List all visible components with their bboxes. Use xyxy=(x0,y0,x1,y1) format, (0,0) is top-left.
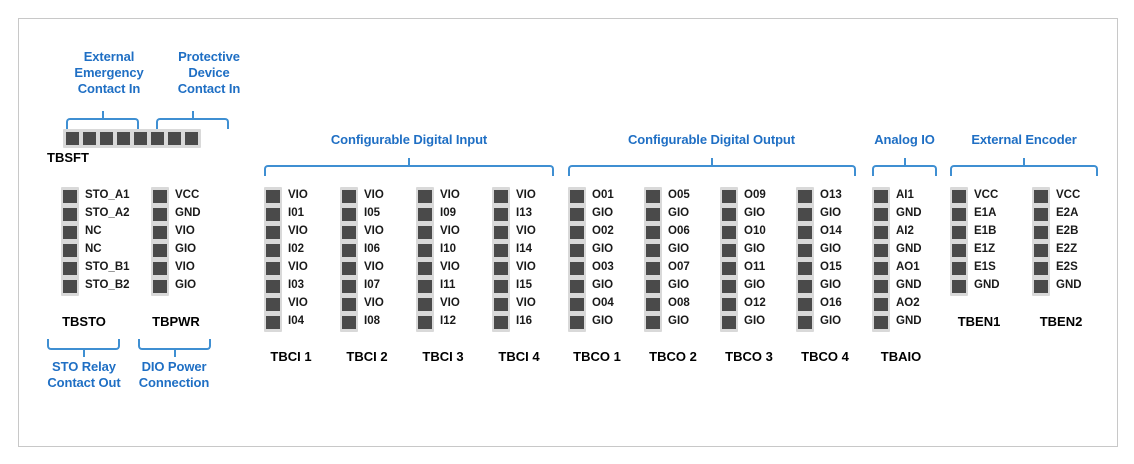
pin-label: NC xyxy=(85,240,130,258)
pin[interactable] xyxy=(342,298,356,311)
pin[interactable] xyxy=(1034,262,1048,275)
pin[interactable] xyxy=(798,208,812,221)
pin[interactable] xyxy=(1034,226,1048,239)
pin-label: GIO xyxy=(668,276,690,294)
bracket-external-emergency xyxy=(66,118,139,129)
pin[interactable] xyxy=(874,190,888,203)
pin-label: VIO xyxy=(440,258,460,276)
pin-label: O10 xyxy=(744,222,766,240)
blockname-tbco1: TBCO 1 xyxy=(555,349,639,364)
pin[interactable] xyxy=(722,226,736,239)
block-tbsto[interactable] xyxy=(61,187,79,296)
pin-label: O09 xyxy=(744,186,766,204)
heading-external-encoder: External Encoder xyxy=(944,132,1104,148)
pin-label: O05 xyxy=(668,186,690,204)
pinlabels-tbci3: VIO I09 VIO I10 VIO I11 VIO I12 xyxy=(440,186,460,330)
blockname-tbpwr: TBPWR xyxy=(131,314,221,329)
pin-label: E1Z xyxy=(974,240,1000,258)
bracket-stem xyxy=(904,158,906,167)
pin-label: E2S xyxy=(1056,258,1082,276)
blockname-tbco2: TBCO 2 xyxy=(631,349,715,364)
pin[interactable] xyxy=(63,280,77,293)
pinlabels-tben1: VCC E1A E1B E1Z E1S GND xyxy=(974,186,1000,294)
pin-label: O15 xyxy=(820,258,842,276)
pin-label: VCC xyxy=(1056,186,1082,204)
pin[interactable] xyxy=(646,262,660,275)
pin-label: O03 xyxy=(592,258,614,276)
bracket-stem xyxy=(102,111,104,120)
pin-label: AI1 xyxy=(896,186,922,204)
pin[interactable] xyxy=(266,316,280,329)
pin[interactable] xyxy=(153,208,167,221)
pin[interactable] xyxy=(874,298,888,311)
pin-label: I13 xyxy=(516,204,536,222)
pin-label: VIO xyxy=(440,222,460,240)
pin-label: GIO xyxy=(668,240,690,258)
heading-sto-relay: STO Relay Contact Out xyxy=(41,359,127,391)
pin[interactable] xyxy=(418,208,432,221)
pin-label: NC xyxy=(85,222,130,240)
pin[interactable] xyxy=(1034,244,1048,257)
pin-label: VIO xyxy=(364,186,384,204)
pin-label: VIO xyxy=(288,222,308,240)
pin-label: E1B xyxy=(974,222,1000,240)
pin-label: AI2 xyxy=(896,222,922,240)
pinlabels-tbci4: VIO I13 VIO I14 VIO I15 VIO I16 xyxy=(516,186,536,330)
pin-label: O12 xyxy=(744,294,766,312)
pin-label: AO2 xyxy=(896,294,922,312)
pin-label: I05 xyxy=(364,204,384,222)
pin[interactable] xyxy=(100,132,113,145)
pin-label: GIO xyxy=(592,240,614,258)
pin-label: VIO xyxy=(364,258,384,276)
heading-analog-io: Analog IO xyxy=(852,132,957,148)
pin[interactable] xyxy=(570,280,584,293)
pin-label: E2A xyxy=(1056,204,1082,222)
pinlabels-tbsto: STO_A1 STO_A2 NC NC STO_B1 STO_B2 xyxy=(85,186,130,294)
pin-label: VIO xyxy=(175,222,201,240)
pin-label: O04 xyxy=(592,294,614,312)
pin[interactable] xyxy=(342,280,356,293)
pin[interactable] xyxy=(494,262,508,275)
bracket-stem xyxy=(192,111,194,120)
bracket-stem xyxy=(1023,158,1025,167)
pin[interactable] xyxy=(798,190,812,203)
block-tbci3[interactable] xyxy=(416,187,434,332)
pin[interactable] xyxy=(151,132,164,145)
pin-label: I04 xyxy=(288,312,308,330)
pin-label: GND xyxy=(896,240,922,258)
pin-label: O02 xyxy=(592,222,614,240)
bracket-protective-device xyxy=(156,118,229,129)
pin[interactable] xyxy=(153,226,167,239)
block-tbaio[interactable] xyxy=(872,187,890,332)
pin[interactable] xyxy=(63,244,77,257)
pin[interactable] xyxy=(874,262,888,275)
pin-label: I01 xyxy=(288,204,308,222)
blockname-tbsft: TBSFT xyxy=(47,150,127,165)
bracket-analog-io xyxy=(872,165,937,176)
pin[interactable] xyxy=(494,298,508,311)
diagram-frame: External Emergency Contact In Protective… xyxy=(18,18,1118,447)
pin-label: GIO xyxy=(744,276,766,294)
pin[interactable] xyxy=(646,280,660,293)
pin[interactable] xyxy=(494,280,508,293)
pin[interactable] xyxy=(153,262,167,275)
pin-label: STO_A2 xyxy=(85,204,130,222)
pin[interactable] xyxy=(722,244,736,257)
pinout-diagram: External Emergency Contact In Protective… xyxy=(0,0,1134,464)
pin[interactable] xyxy=(168,132,181,145)
pin-label: VCC xyxy=(974,186,1000,204)
pin-label: VIO xyxy=(288,294,308,312)
pin-label: VCC xyxy=(175,186,201,204)
pin[interactable] xyxy=(63,190,77,203)
heading-digital-output: Configurable Digital Output xyxy=(564,132,859,148)
pin[interactable] xyxy=(570,190,584,203)
pin[interactable] xyxy=(63,226,77,239)
pin[interactable] xyxy=(798,262,812,275)
pin[interactable] xyxy=(570,316,584,329)
blockname-tbci1: TBCI 1 xyxy=(251,349,331,364)
pin[interactable] xyxy=(570,208,584,221)
bracket-dio-power xyxy=(138,339,211,350)
pin-label: I11 xyxy=(440,276,460,294)
pin[interactable] xyxy=(646,316,660,329)
blockname-tbco4: TBCO 4 xyxy=(783,349,867,364)
pin-label: STO_A1 xyxy=(85,186,130,204)
pin[interactable] xyxy=(952,208,966,221)
pin-label: GIO xyxy=(820,276,842,294)
pin[interactable] xyxy=(418,190,432,203)
pin[interactable] xyxy=(418,226,432,239)
pin[interactable] xyxy=(185,132,198,145)
pin[interactable] xyxy=(418,316,432,329)
heading-external-emergency: External Emergency Contact In xyxy=(59,49,159,97)
pinlabels-tbco1: O01 GIO O02 GIO O03 GIO O04 GIO xyxy=(592,186,614,330)
pin[interactable] xyxy=(494,190,508,203)
bracket-digital-output xyxy=(568,165,856,176)
pin[interactable] xyxy=(570,298,584,311)
pin[interactable] xyxy=(722,298,736,311)
pin-label: STO_B1 xyxy=(85,258,130,276)
pin[interactable] xyxy=(874,226,888,239)
pin-label: VIO xyxy=(516,258,536,276)
bracket-digital-input xyxy=(264,165,554,176)
pin-label: GIO xyxy=(175,276,201,294)
blockname-tbco3: TBCO 3 xyxy=(707,349,791,364)
pin[interactable] xyxy=(266,244,280,257)
block-tben2[interactable] xyxy=(1032,187,1050,296)
pin[interactable] xyxy=(266,262,280,275)
pin-label: GIO xyxy=(820,312,842,330)
pin[interactable] xyxy=(646,226,660,239)
pin[interactable] xyxy=(342,316,356,329)
pin-label: VIO xyxy=(516,186,536,204)
block-tbci1[interactable] xyxy=(264,187,282,332)
pin[interactable] xyxy=(570,244,584,257)
pin-label: GIO xyxy=(592,312,614,330)
pin[interactable] xyxy=(722,208,736,221)
pin[interactable] xyxy=(646,190,660,203)
pin[interactable] xyxy=(494,226,508,239)
block-tbco4[interactable] xyxy=(796,187,814,332)
pin-label: VIO xyxy=(440,294,460,312)
pin-label: GND xyxy=(1056,276,1082,294)
pin[interactable] xyxy=(798,244,812,257)
pin[interactable] xyxy=(494,244,508,257)
pinlabels-tbco3: O09 GIO O10 GIO O11 GIO O12 GIO xyxy=(744,186,766,330)
pinlabels-tbci2: VIO I05 VIO I06 VIO I07 VIO I08 xyxy=(364,186,384,330)
pin-label: GND xyxy=(974,276,1000,294)
heading-digital-input: Configurable Digital Input xyxy=(264,132,554,148)
pin[interactable] xyxy=(342,244,356,257)
pin[interactable] xyxy=(117,132,130,145)
pin[interactable] xyxy=(874,244,888,257)
pin-label: O13 xyxy=(820,186,842,204)
pin-label: VIO xyxy=(516,294,536,312)
block-tbco1[interactable] xyxy=(568,187,586,332)
pin[interactable] xyxy=(266,280,280,293)
pin-label: STO_B2 xyxy=(85,276,130,294)
pin[interactable] xyxy=(874,208,888,221)
pin[interactable] xyxy=(494,208,508,221)
pin[interactable] xyxy=(646,298,660,311)
pin-label: I09 xyxy=(440,204,460,222)
pin[interactable] xyxy=(798,316,812,329)
heading-dio-power: DIO Power Connection xyxy=(131,359,217,391)
pin[interactable] xyxy=(266,208,280,221)
pin[interactable] xyxy=(418,280,432,293)
block-tbsft[interactable] xyxy=(63,129,201,148)
blockname-tbci4: TBCI 4 xyxy=(479,349,559,364)
heading-protective-device: Protective Device Contact In xyxy=(159,49,259,97)
bracket-sto-relay xyxy=(47,339,120,350)
pin[interactable] xyxy=(952,190,966,203)
pin-label: O11 xyxy=(744,258,766,276)
pin-label: O06 xyxy=(668,222,690,240)
pin-label: GIO xyxy=(820,240,842,258)
pin-label: GND xyxy=(175,204,201,222)
pin-label: GIO xyxy=(744,312,766,330)
pin-label: GIO xyxy=(592,276,614,294)
pin-label: GND xyxy=(896,312,922,330)
pinlabels-tbci1: VIO I01 VIO I02 VIO I03 VIO I04 xyxy=(288,186,308,330)
pin-label: GIO xyxy=(668,312,690,330)
pin[interactable] xyxy=(153,280,167,293)
pin[interactable] xyxy=(646,208,660,221)
pin[interactable] xyxy=(66,132,79,145)
pin[interactable] xyxy=(342,208,356,221)
pin-label: E2Z xyxy=(1056,240,1082,258)
pin-label: AO1 xyxy=(896,258,922,276)
pin-label: O08 xyxy=(668,294,690,312)
pin-label: GIO xyxy=(744,240,766,258)
pin-label: GIO xyxy=(820,204,842,222)
pin[interactable] xyxy=(266,190,280,203)
pin[interactable] xyxy=(153,244,167,257)
pin-label: O07 xyxy=(668,258,690,276)
pin[interactable] xyxy=(952,244,966,257)
pin[interactable] xyxy=(342,262,356,275)
pin[interactable] xyxy=(798,280,812,293)
pin-label: I10 xyxy=(440,240,460,258)
pin-label: VIO xyxy=(516,222,536,240)
pin[interactable] xyxy=(1034,208,1048,221)
pin[interactable] xyxy=(1034,280,1048,293)
pin[interactable] xyxy=(798,226,812,239)
pinlabels-tbpwr: VCC GND VIO GIO VIO GIO xyxy=(175,186,201,294)
pin[interactable] xyxy=(570,262,584,275)
bracket-external-encoder xyxy=(950,165,1098,176)
pin[interactable] xyxy=(952,262,966,275)
pin-label: I14 xyxy=(516,240,536,258)
pin-label: O01 xyxy=(592,186,614,204)
pin[interactable] xyxy=(798,298,812,311)
bracket-stem xyxy=(174,348,176,357)
blockname-tbaio: TBAIO xyxy=(859,349,943,364)
pin[interactable] xyxy=(1034,190,1048,203)
pin-label: I06 xyxy=(364,240,384,258)
pin-label: VIO xyxy=(288,258,308,276)
pin-label: E1S xyxy=(974,258,1000,276)
pin-label: I12 xyxy=(440,312,460,330)
pin[interactable] xyxy=(722,262,736,275)
pin[interactable] xyxy=(874,316,888,329)
pin[interactable] xyxy=(153,190,167,203)
pin[interactable] xyxy=(83,132,96,145)
bracket-stem xyxy=(408,158,410,167)
pin-label: VIO xyxy=(175,258,201,276)
pin-label: I02 xyxy=(288,240,308,258)
pin[interactable] xyxy=(342,226,356,239)
block-tbci4[interactable] xyxy=(492,187,510,332)
pin-label: O16 xyxy=(820,294,842,312)
pin[interactable] xyxy=(418,298,432,311)
pinlabels-tbco4: O13 GIO O14 GIO O15 GIO O16 GIO xyxy=(820,186,842,330)
pin-label: E2B xyxy=(1056,222,1082,240)
blockname-tbci3: TBCI 3 xyxy=(403,349,483,364)
pin[interactable] xyxy=(952,280,966,293)
blockname-tben2: TBEN2 xyxy=(1019,314,1103,329)
pin-label: GIO xyxy=(744,204,766,222)
pin-label: GND xyxy=(896,204,922,222)
pin[interactable] xyxy=(874,280,888,293)
pin-label: E1A xyxy=(974,204,1000,222)
pin[interactable] xyxy=(418,262,432,275)
pin[interactable] xyxy=(722,280,736,293)
bracket-stem xyxy=(83,348,85,357)
pin[interactable] xyxy=(266,298,280,311)
pinlabels-tben2: VCC E2A E2B E2Z E2S GND xyxy=(1056,186,1082,294)
pin-label: VIO xyxy=(440,186,460,204)
pin-label: I08 xyxy=(364,312,384,330)
block-tben1[interactable] xyxy=(950,187,968,296)
pin[interactable] xyxy=(722,316,736,329)
pin-label: VIO xyxy=(288,186,308,204)
pin-label: I07 xyxy=(364,276,384,294)
block-tbci2[interactable] xyxy=(340,187,358,332)
block-tbpwr[interactable] xyxy=(151,187,169,296)
pin[interactable] xyxy=(266,226,280,239)
pin[interactable] xyxy=(570,226,584,239)
block-tbco2[interactable] xyxy=(644,187,662,332)
pin-label: VIO xyxy=(364,222,384,240)
pinlabels-tbaio: AI1 GND AI2 GND AO1 GND AO2 GND xyxy=(896,186,922,330)
blockname-tben1: TBEN1 xyxy=(937,314,1021,329)
pin-label: GIO xyxy=(592,204,614,222)
pin-label: I03 xyxy=(288,276,308,294)
block-tbco3[interactable] xyxy=(720,187,738,332)
pin[interactable] xyxy=(494,316,508,329)
blockname-tbsto: TBSTO xyxy=(39,314,129,329)
bracket-stem xyxy=(711,158,713,167)
pinlabels-tbco2: O05 GIO O06 GIO O07 GIO O08 GIO xyxy=(668,186,690,330)
pin[interactable] xyxy=(418,244,432,257)
pin-label: I15 xyxy=(516,276,536,294)
pin[interactable] xyxy=(646,244,660,257)
pin[interactable] xyxy=(63,208,77,221)
pin-label: GND xyxy=(896,276,922,294)
pin-label: I16 xyxy=(516,312,536,330)
pin[interactable] xyxy=(342,190,356,203)
pin-label: VIO xyxy=(364,294,384,312)
pin[interactable] xyxy=(134,132,147,145)
pin[interactable] xyxy=(722,190,736,203)
pin[interactable] xyxy=(63,262,77,275)
pin-label: O14 xyxy=(820,222,842,240)
blockname-tbci2: TBCI 2 xyxy=(327,349,407,364)
pin-label: GIO xyxy=(175,240,201,258)
pin-label: GIO xyxy=(668,204,690,222)
pin[interactable] xyxy=(952,226,966,239)
